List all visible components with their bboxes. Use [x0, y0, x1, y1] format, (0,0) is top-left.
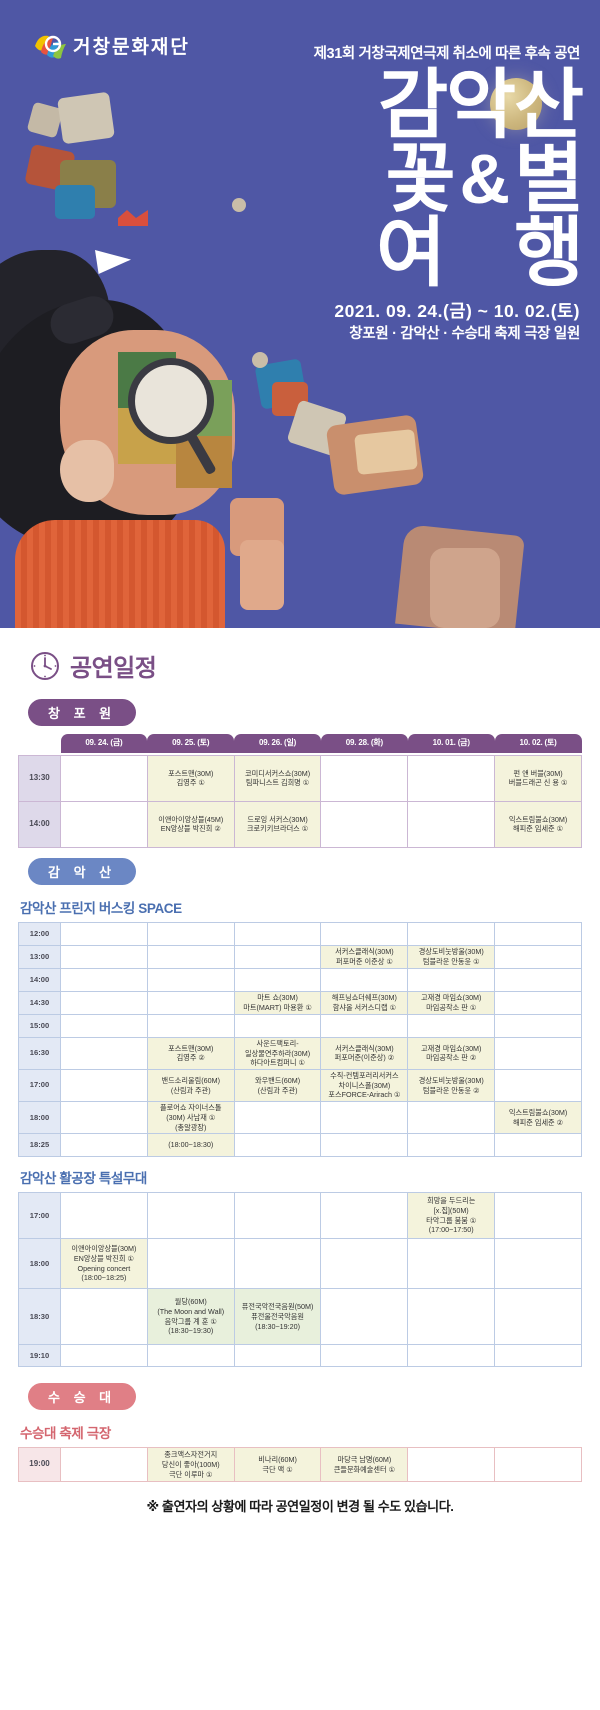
empty-cell	[61, 1037, 148, 1069]
collage-piece	[95, 250, 131, 274]
empty-cell	[495, 991, 582, 1014]
empty-cell	[234, 1102, 321, 1134]
event-line: 당신이 좋아(100M)	[150, 1460, 232, 1470]
empty-cell	[408, 922, 495, 945]
section-pill-gamaksan: 감 악 산	[28, 858, 136, 885]
empty-cell	[495, 1448, 582, 1482]
event-line: 펀 앤 버블(30M)	[497, 769, 579, 779]
event-cell: 사운드팩토리-일상물연주하라(30M)하다아트컴퍼니 ①	[234, 1037, 321, 1069]
event-line: (18:30~19:20)	[236, 1322, 320, 1332]
event-line: 이앤아이앙상블(45M)	[150, 815, 232, 825]
schedule-heading-row: 공연일정	[30, 648, 582, 683]
event-line: EN앙상블 박진희 ②	[150, 824, 232, 834]
event-cell: 밴드소리울림(60M)(산림과 주관)	[147, 1069, 234, 1101]
event-line: 퍼포머준 이준상 ①	[322, 957, 406, 967]
row-time-label: 18:00	[19, 1102, 61, 1134]
empty-cell	[147, 1345, 234, 1367]
subsection-title-stage: 감악산 활공장 특설무대	[20, 1167, 582, 1187]
empty-cell	[321, 1193, 408, 1239]
row-time-label: 13:30	[19, 755, 61, 801]
event-line: 마임공작소 판 ①	[409, 1003, 493, 1013]
empty-cell	[234, 945, 321, 968]
row-time-label: 14:00	[19, 968, 61, 991]
empty-cell	[408, 1134, 495, 1157]
event-line: 경상도비눗방울(30M)	[409, 1076, 493, 1086]
empty-cell	[321, 801, 408, 847]
empty-cell	[495, 1014, 582, 1037]
empty-cell	[408, 968, 495, 991]
event-line: 함샤올 서커스디랩 ①	[322, 1003, 406, 1013]
event-line: 포스FORCE-Arirach ①	[322, 1090, 406, 1100]
empty-cell	[495, 922, 582, 945]
event-line: 희망을 두드리는	[409, 1196, 493, 1206]
empty-cell	[321, 922, 408, 945]
event-line: (산림과 주관)	[149, 1086, 233, 1096]
event-line: 포스트맨(30M)	[150, 769, 232, 779]
gcf-bird-logo-icon	[33, 30, 67, 60]
event-line: 밴드소리울림(60M)	[149, 1076, 233, 1086]
foundation-logo: 거창문화재단	[33, 30, 190, 60]
event-line: 텀블라운 안동윤 ①	[409, 957, 493, 967]
empty-cell	[495, 1289, 582, 1345]
row-time-label: 18:30	[19, 1289, 61, 1345]
event-cell: 경상도비눗방울(30M)텀블라운 안동윤 ①	[408, 945, 495, 968]
empty-cell	[495, 945, 582, 968]
event-line: 차이니스폴(30M)	[322, 1081, 406, 1091]
event-line: 텀블라운 안동윤 ②	[409, 1086, 493, 1096]
section-pill-changpowon: 창 포 원	[28, 699, 136, 726]
poster-hero: 거창문화재단 제31회 거창국제연극제 취소에 따른 후속 공연 감악산 꽃 &…	[0, 0, 600, 628]
event-line: 비나리(60M)	[237, 1455, 319, 1465]
poster-page: 거창문화재단 제31회 거창국제연극제 취소에 따른 후속 공연 감악산 꽃 &…	[0, 0, 600, 1710]
row-time-label: 17:00	[19, 1069, 61, 1101]
event-line: 드로잉 서커스(30M)	[237, 815, 319, 825]
event-line: (The Moon and Wall)	[149, 1307, 233, 1317]
row-time-label: 14:30	[19, 991, 61, 1014]
event-line: 극단 맥 ①	[237, 1465, 319, 1475]
empty-cell	[321, 1134, 408, 1157]
event-cell: 월당(60M)(The Moon and Wall)음악그룹 계 훈 ①(18:…	[147, 1289, 234, 1345]
event-line: (18:00~18:25)	[62, 1273, 146, 1283]
event-line: 코미디서커스쇼(30M)	[237, 769, 319, 779]
empty-cell	[61, 991, 148, 1014]
table-row: 18:30월당(60M)(The Moon and Wall)음악그룹 계 훈 …	[19, 1289, 582, 1345]
table-changpowon: 09. 24. (금) 09. 25. (토) 09. 26. (일) 09. …	[18, 734, 582, 848]
event-cell: 이앤아이앙상블(45M)EN앙상블 박진희 ②	[147, 801, 234, 847]
empty-cell	[408, 1239, 495, 1289]
event-line: [x.집](50M)	[409, 1206, 493, 1216]
poster-subhead: 제31회 거창국제연극제 취소에 따른 후속 공연	[314, 42, 580, 63]
event-line: 포스트맨(30M)	[149, 1044, 233, 1054]
table-header-row: 09. 24. (금) 09. 25. (토) 09. 26. (일) 09. …	[19, 734, 582, 755]
empty-cell	[147, 968, 234, 991]
empty-cell	[321, 755, 408, 801]
empty-cell	[495, 1193, 582, 1239]
empty-cell	[408, 1289, 495, 1345]
event-cell: 이앤아이앙상블(30M)EN앙상블 박진희 ①Opening concert(1…	[61, 1239, 148, 1289]
event-line: (총알광장)	[149, 1123, 233, 1133]
row-time-label: 13:00	[19, 945, 61, 968]
empty-cell	[61, 1193, 148, 1239]
subsection-title-busking: 감악산 프린지 버스킹 SPACE	[20, 897, 582, 917]
empty-cell	[321, 1345, 408, 1367]
event-line: 익스트림불쇼(30M)	[497, 815, 579, 825]
event-cell: 마당극 남명(60M)큰들문화예술센터 ①	[321, 1448, 408, 1482]
empty-cell	[234, 1193, 321, 1239]
table-body: 13:30포스트맨(30M)김영주 ①코미디서커스쇼(30M)팀파니스트 김희명…	[19, 755, 582, 847]
empty-cell	[495, 1037, 582, 1069]
footnote: ※ 출연자의 상황에 따라 공연일정이 변경 될 수도 있습니다.	[18, 1496, 582, 1515]
section-pill-suseungdae: 수 승 대	[28, 1383, 136, 1410]
table-suseungdae: 19:00종크액스자전거지당신이 좋아(100M)극단 이루마 ①비나리(60M…	[18, 1447, 582, 1482]
event-line: 경상도비눗방울(30M)	[409, 947, 493, 957]
empty-cell	[408, 801, 495, 847]
table-body: 12:0013:00서커스클래식(30M)퍼포머준 이준상 ①경상도비눗방울(3…	[19, 922, 582, 1156]
table-row: 19:00종크액스자전거지당신이 좋아(100M)극단 이루마 ①비나리(60M…	[19, 1448, 582, 1482]
title-ampersand: &	[454, 146, 515, 217]
empty-cell	[61, 968, 148, 991]
empty-cell	[408, 755, 495, 801]
event-cell: 마트 쇼(30M)마트(MART) 마용환 ①	[234, 991, 321, 1014]
table-row: 14:30마트 쇼(30M)마트(MART) 마용환 ①해프닝쇼더쉐프(30M)…	[19, 991, 582, 1014]
empty-cell	[495, 968, 582, 991]
column-header: 09. 24. (금)	[61, 734, 148, 753]
column-header: 10. 02. (토)	[495, 734, 582, 753]
empty-cell	[234, 1239, 321, 1289]
event-line: 해피준 임세준 ①	[497, 824, 579, 834]
column-header: 10. 01. (금)	[408, 734, 495, 753]
event-cell: 와우밴드(60M)(산림과 주관)	[234, 1069, 321, 1101]
event-line: 고재경 마임쇼(30M)	[409, 1044, 493, 1054]
empty-cell	[321, 1239, 408, 1289]
event-line: 큰들문화예술센터 ①	[323, 1465, 405, 1475]
event-line: 플로어쇼 자이너스톨	[149, 1103, 233, 1113]
poster-venue: 창포원 · 감악산 · 수승대 축제 극장 일원	[349, 322, 580, 343]
table-row: 18:00플로어쇼 자이너스톨(30M) 사남재 ①(총알광장)익스트림불쇼(3…	[19, 1102, 582, 1134]
event-cell: 해프닝쇼더쉐프(30M)함샤올 서커스디랩 ①	[321, 991, 408, 1014]
event-line: 팀파니스트 김희명 ①	[237, 778, 319, 788]
empty-cell	[61, 1014, 148, 1037]
event-line: (17:00~17:50)	[409, 1225, 493, 1235]
empty-cell	[147, 1014, 234, 1037]
table-row: 14:00	[19, 968, 582, 991]
empty-cell	[147, 945, 234, 968]
event-line: 퓨전국악전국음원(50M)	[236, 1302, 320, 1312]
event-line: Opening concert	[62, 1264, 146, 1274]
event-line: 버블드래곤 신 용 ①	[497, 778, 579, 788]
event-line: 극단 이루마 ①	[150, 1470, 232, 1480]
empty-cell	[321, 1014, 408, 1037]
title-line-1: 감악산	[378, 70, 582, 142]
event-cell: 고재경 마임쇼(30M)마임공작소 판 ①	[408, 991, 495, 1014]
column-header: 09. 28. (화)	[321, 734, 408, 753]
empty-cell	[61, 1069, 148, 1101]
empty-cell	[61, 801, 148, 847]
empty-cell	[234, 1134, 321, 1157]
table-row: 15:00	[19, 1014, 582, 1037]
empty-cell	[147, 1239, 234, 1289]
table-row: 16:30포스트맨(30M)김영주 ②사운드팩토리-일상물연주하라(30M)하다…	[19, 1037, 582, 1069]
event-line: 크로키키브라더스 ①	[237, 824, 319, 834]
poster-title: 감악산 꽃 & 별 여 행	[162, 70, 582, 291]
collage-piece	[55, 185, 95, 219]
empty-cell	[408, 1448, 495, 1482]
empty-cell	[495, 1345, 582, 1367]
empty-cell	[61, 755, 148, 801]
event-line: 이앤아이앙상블(30M)	[62, 1244, 146, 1254]
row-time-label: 16:30	[19, 1037, 61, 1069]
event-line: 타악그룹 붐붐 ①	[409, 1216, 493, 1226]
event-cell: 종크액스자전거지당신이 좋아(100M)극단 이루마 ①	[147, 1448, 234, 1482]
table-row: 13:30포스트맨(30M)김영주 ①코미디서커스쇼(30M)팀파니스트 김희명…	[19, 755, 582, 801]
empty-cell	[408, 1345, 495, 1367]
table-gamaksan-busking: 12:0013:00서커스클래식(30M)퍼포머준 이준상 ①경상도비눗방울(3…	[18, 922, 582, 1157]
illustration-ear	[60, 440, 114, 502]
column-header: 09. 25. (토)	[147, 734, 234, 753]
empty-cell	[147, 922, 234, 945]
event-cell: 수직-컨템포러리서커스차이니스폴(30M)포스FORCE-Arirach ①	[321, 1069, 408, 1101]
table-gamaksan-stage: 17:00희망을 두드리는[x.집](50M)타악그룹 붐붐 ①(17:00~1…	[18, 1192, 582, 1367]
table-row: 13:00서커스클래식(30M)퍼포머준 이준상 ①경상도비눗방울(30M)텀블…	[19, 945, 582, 968]
event-cell: 펀 앤 버블(30M)버블드래곤 신 용 ①	[495, 755, 582, 801]
event-line: 와우밴드(60M)	[236, 1076, 320, 1086]
event-line: 마임공작소 판 ②	[409, 1053, 493, 1063]
illustration-sweater	[15, 520, 225, 628]
event-line: 마트 쇼(30M)	[236, 993, 320, 1003]
collage-piece	[354, 429, 418, 475]
row-time-label: 17:00	[19, 1193, 61, 1239]
empty-cell	[234, 922, 321, 945]
event-line: 서커스클래식(30M)	[322, 1044, 406, 1054]
empty-cell	[234, 1345, 321, 1367]
event-cell: 고재경 마임쇼(30M)마임공작소 판 ②	[408, 1037, 495, 1069]
schedule-section: 공연일정 창 포 원 09. 24. (금) 09. 25. (토) 09. 2…	[0, 628, 600, 1515]
event-line: 퍼포머준(이준상) ②	[322, 1053, 406, 1063]
row-time-label: 19:10	[19, 1345, 61, 1367]
event-line: 마트(MART) 마용환 ①	[236, 1003, 320, 1013]
event-cell: 코미디서커스쇼(30M)팀파니스트 김희명 ①	[234, 755, 321, 801]
table-row: 17:00밴드소리울림(60M)(산림과 주관)와우밴드(60M)(산림과 주관…	[19, 1069, 582, 1101]
clock-icon	[30, 651, 60, 681]
column-header: 09. 26. (일)	[234, 734, 321, 753]
title-line-2a: 꽃	[386, 144, 454, 216]
row-time-label: 19:00	[19, 1448, 61, 1482]
empty-cell	[408, 1102, 495, 1134]
table-row: 19:10	[19, 1345, 582, 1367]
table-body: 19:00종크액스자전거지당신이 좋아(100M)극단 이루마 ①비나리(60M…	[19, 1448, 582, 1482]
event-cell: 드로잉 서커스(30M)크로키키브라더스 ①	[234, 801, 321, 847]
magnifier-icon	[128, 358, 214, 444]
event-line: 고재경 마임쇼(30M)	[409, 993, 493, 1003]
event-line: 음악그룹 계 훈 ①	[149, 1317, 233, 1327]
event-line: 해프닝쇼더쉐프(30M)	[322, 993, 406, 1003]
event-cell: 퓨전국악전국음원(50M)퓨전울전국악음원(18:30~19:20)	[234, 1289, 321, 1345]
event-cell: 포스트맨(30M)김영주 ②	[147, 1037, 234, 1069]
empty-cell	[234, 968, 321, 991]
collage-piece	[430, 548, 500, 628]
event-line: EN앙상블 박진희 ①	[62, 1254, 146, 1264]
table-row: 14:00이앤아이앙상블(45M)EN앙상블 박진희 ②드로잉 서커스(30M)…	[19, 801, 582, 847]
empty-cell	[61, 1134, 148, 1157]
empty-cell	[61, 1448, 148, 1482]
event-cell: 익스트림불쇼(30M)해피준 임세준 ②	[495, 1102, 582, 1134]
event-cell: 익스트림불쇼(30M)해피준 임세준 ①	[495, 801, 582, 847]
empty-cell	[61, 945, 148, 968]
table-body: 17:00희망을 두드리는[x.집](50M)타악그룹 붐붐 ①(17:00~1…	[19, 1193, 582, 1367]
event-line: (산림과 주관)	[236, 1086, 320, 1096]
event-cell: 서커스클래식(30M)퍼포머준(이준상) ②	[321, 1037, 408, 1069]
event-line: 서커스클래식(30M)	[322, 947, 406, 957]
event-line: 김영주 ①	[150, 778, 232, 788]
collage-dot	[252, 352, 268, 368]
empty-cell	[495, 1134, 582, 1157]
empty-cell	[495, 1239, 582, 1289]
event-cell: 경상도비눗방울(30M)텀블라운 안동윤 ②	[408, 1069, 495, 1101]
event-line: 익스트림불쇼(30M)	[496, 1108, 580, 1118]
collage-piece	[118, 210, 148, 226]
event-line: 월당(60M)	[149, 1297, 233, 1307]
row-time-label: 14:00	[19, 801, 61, 847]
event-line: 종크액스자전거지	[150, 1450, 232, 1460]
table-row: 18:00이앤아이앙상블(30M)EN앙상블 박진희 ①Opening conc…	[19, 1239, 582, 1289]
table-row: 18:25(18:00~18:30)	[19, 1134, 582, 1157]
event-line: 일상물연주하라(30M)	[236, 1049, 320, 1059]
poster-date-range: 2021. 09. 24.(금) ~ 10. 02.(토)	[334, 298, 580, 323]
event-line: (30M) 사남재 ①	[149, 1113, 233, 1123]
row-time-label: 18:00	[19, 1239, 61, 1289]
empty-cell	[61, 1345, 148, 1367]
row-time-label: 12:00	[19, 922, 61, 945]
empty-cell	[321, 1289, 408, 1345]
event-line: 마당극 남명(60M)	[323, 1455, 405, 1465]
event-line: 해피준 임세준 ②	[496, 1118, 580, 1128]
event-cell: 서커스클래식(30M)퍼포머준 이준상 ①	[321, 945, 408, 968]
event-cell: 플로어쇼 자이너스톨(30M) 사남재 ①(총알광장)	[147, 1102, 234, 1134]
empty-cell	[61, 922, 148, 945]
event-cell: 비나리(60M)극단 맥 ①	[234, 1448, 321, 1482]
foundation-name: 거창문화재단	[73, 32, 190, 59]
title-line-3a: 여	[376, 218, 444, 290]
empty-cell	[234, 1014, 321, 1037]
event-line: 하다아트컴퍼니 ①	[236, 1058, 320, 1068]
collage-piece	[240, 540, 284, 610]
empty-cell	[408, 1014, 495, 1037]
empty-cell	[495, 1069, 582, 1101]
event-cell: 희망을 두드리는[x.집](50M)타악그룹 붐붐 ①(17:00~17:50)	[408, 1193, 495, 1239]
title-line-3b: 행	[514, 218, 582, 290]
event-line: 수직-컨템포러리서커스	[322, 1071, 406, 1081]
empty-cell	[147, 991, 234, 1014]
event-line: 김영주 ②	[149, 1053, 233, 1063]
event-line: 사운드팩토리-	[236, 1039, 320, 1049]
table-row: 12:00	[19, 922, 582, 945]
row-time-label: 15:00	[19, 1014, 61, 1037]
event-line: (18:00~18:30)	[149, 1140, 233, 1150]
empty-cell	[61, 1289, 148, 1345]
table-row: 17:00희망을 두드리는[x.집](50M)타악그룹 붐붐 ①(17:00~1…	[19, 1193, 582, 1239]
event-line: (18:30~19:30)	[149, 1326, 233, 1336]
row-time-label: 18:25	[19, 1134, 61, 1157]
page-title: 공연일정	[70, 648, 156, 683]
collage-piece	[57, 92, 115, 145]
table-head: 09. 24. (금) 09. 25. (토) 09. 26. (일) 09. …	[19, 734, 582, 755]
title-line-2b: 별	[514, 144, 582, 216]
empty-cell	[147, 1193, 234, 1239]
event-line: 퓨전울전국악음원	[236, 1312, 320, 1322]
empty-cell	[321, 1102, 408, 1134]
empty-cell	[321, 968, 408, 991]
event-cell: 포스트맨(30M)김영주 ①	[147, 755, 234, 801]
subsection-title-suseungdae: 수승대 축제 극장	[20, 1422, 582, 1442]
empty-cell	[61, 1102, 148, 1134]
event-cell: (18:00~18:30)	[147, 1134, 234, 1157]
